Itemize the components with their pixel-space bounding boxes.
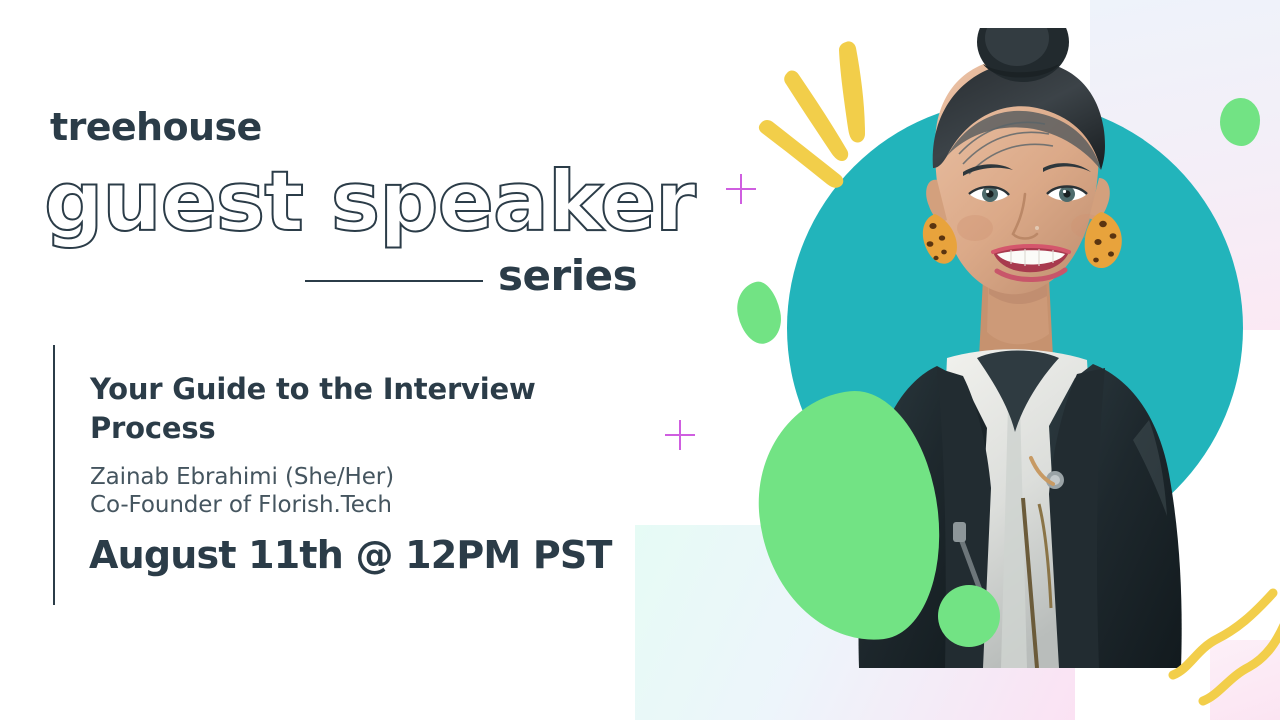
speaker-role: Co-Founder of Florish.Tech bbox=[90, 490, 392, 521]
headline-outline-text: guest speaker bbox=[44, 160, 695, 243]
series-divider-rule bbox=[305, 280, 483, 282]
speaker-name: Zainab Ebrahimi (She/Her) bbox=[90, 462, 394, 493]
green-circle-shape bbox=[938, 585, 1000, 647]
yellow-squiggle-strokes bbox=[1155, 575, 1280, 720]
green-blob-shape-left bbox=[732, 278, 786, 347]
magenta-plus-icon-lower bbox=[665, 420, 695, 450]
series-word: series bbox=[498, 255, 637, 297]
magenta-plus-icon-upper bbox=[726, 174, 756, 204]
brand-wordmark: treehouse bbox=[50, 108, 262, 146]
vertical-accent-rule bbox=[53, 345, 55, 605]
event-datetime: August 11th @ 12PM PST bbox=[89, 535, 612, 577]
slide-canvas: Speaker portrait: smiling person with ha… bbox=[0, 0, 1280, 720]
talk-title: Your Guide to the Interview Process bbox=[90, 370, 570, 447]
